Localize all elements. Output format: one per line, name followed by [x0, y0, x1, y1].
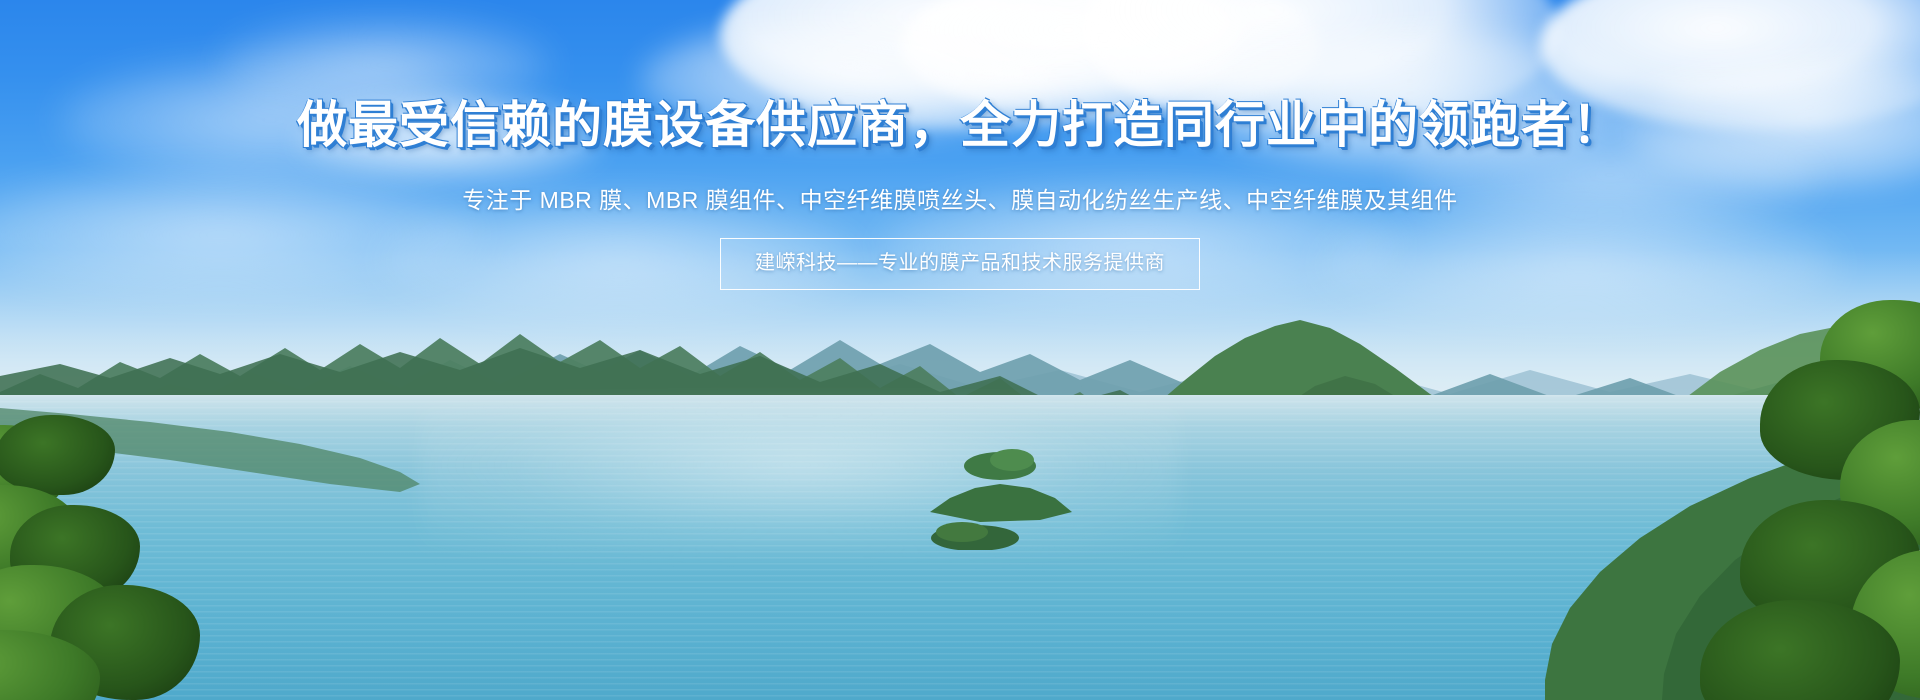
tagline-container: 建嵘科技——专业的膜产品和技术服务提供商	[0, 238, 1920, 290]
subtitle-text: 专注于 MBR 膜、MBR 膜组件、中空纤维膜喷丝头、膜自动化纺丝生产线、中空纤…	[0, 183, 1920, 217]
headline-text: 做最受信赖的膜设备供应商，全力打造同行业中的领跑者！	[0, 96, 1920, 154]
water-ripples	[0, 395, 1920, 700]
lake-water	[0, 395, 1920, 700]
hero-banner: 做最受信赖的膜设备供应商，全力打造同行业中的领跑者！ 专注于 MBR 膜、MBR…	[0, 0, 1920, 700]
tagline-box: 建嵘科技——专业的膜产品和技术服务提供商	[720, 238, 1200, 290]
